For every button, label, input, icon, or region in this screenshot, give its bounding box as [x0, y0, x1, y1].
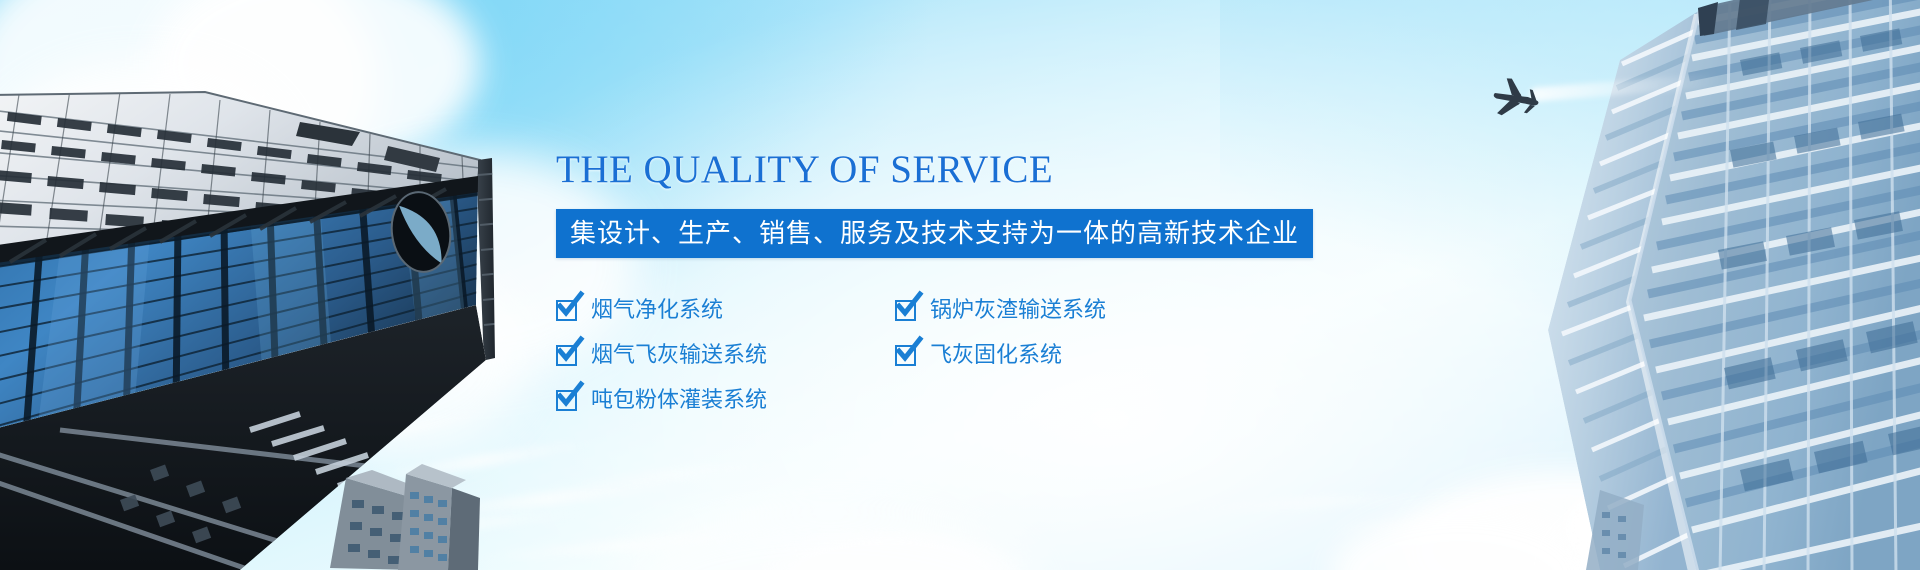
list-item[interactable]: 烟气净化系统 — [556, 288, 767, 333]
checkbox-checked-icon[interactable] — [556, 390, 577, 411]
feature-label: 锅炉灰渣输送系统 — [930, 300, 1106, 322]
checkbox-checked-icon[interactable] — [895, 345, 916, 366]
banner-text-block: THE QUALITY OF SERVICE 集设计、生产、销售、服务及技术支持… — [556, 150, 1456, 448]
list-item[interactable]: 锅炉灰渣输送系统 — [895, 288, 1106, 333]
checkbox-checked-icon[interactable] — [556, 345, 577, 366]
feature-label: 飞灰固化系统 — [930, 345, 1062, 367]
distant-building — [388, 440, 498, 570]
feature-label: 吨包粉体灌装系统 — [591, 390, 767, 412]
subtitle-bar: 集设计、生产、销售、服务及技术支持为一体的高新技术企业 — [556, 209, 1313, 258]
checkbox-checked-icon[interactable] — [895, 300, 916, 321]
feature-column-left: 烟气净化系统 烟气飞灰输送系统 吨包粉体灌装系统 — [556, 288, 767, 423]
feature-list: 烟气净化系统 烟气飞灰输送系统 吨包粉体灌装系统 — [556, 288, 1456, 448]
feature-label: 烟气飞灰输送系统 — [591, 345, 767, 367]
checkbox-checked-icon[interactable] — [556, 300, 577, 321]
list-item[interactable]: 吨包粉体灌装系统 — [556, 378, 767, 423]
page-title: THE QUALITY OF SERVICE — [556, 150, 1456, 189]
cloud-icon — [760, 530, 1020, 570]
hero-banner: THE QUALITY OF SERVICE 集设计、生产、销售、服务及技术支持… — [0, 0, 1920, 570]
list-item[interactable]: 飞灰固化系统 — [895, 333, 1106, 378]
feature-label: 烟气净化系统 — [591, 300, 723, 322]
airplane-icon — [1487, 78, 1543, 120]
feature-column-right: 锅炉灰渣输送系统 飞灰固化系统 — [895, 288, 1106, 378]
list-item[interactable]: 烟气飞灰输送系统 — [556, 333, 767, 378]
